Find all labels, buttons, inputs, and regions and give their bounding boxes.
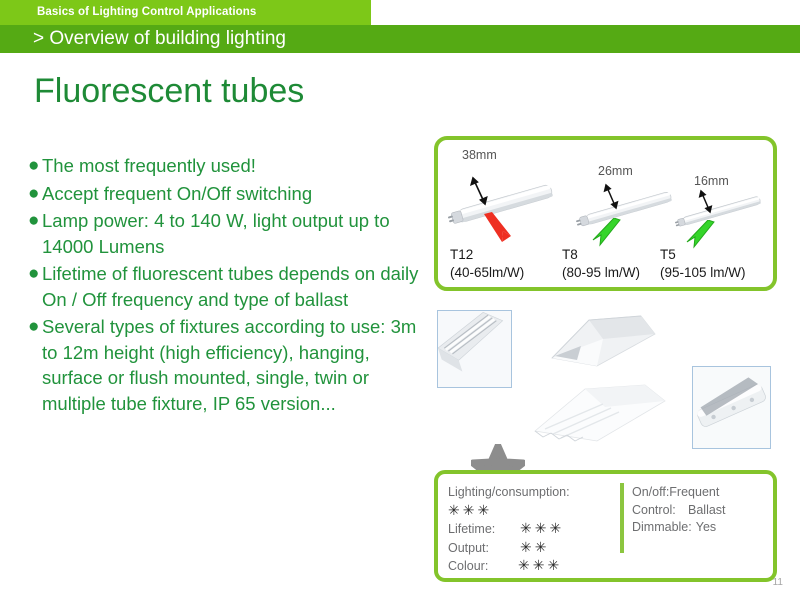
list-item: ● Lifetime of fluorescent tubes depends … [28,261,423,312]
bullet-marker-icon: ● [28,261,42,287]
bullet-list: ● The most frequently used! ● Accept fre… [28,153,423,418]
info-row-lighting-consumption: Lighting/consumption: [448,484,616,502]
info-row-dimmable: Dimmable: Yes [632,519,772,537]
surface-reflector-luminaire-photo [537,312,662,374]
list-item-text: Lamp power: 4 to 140 W, light output up … [42,208,423,259]
info-row-lifetime: Lifetime: ✳✳✳ [448,520,616,539]
bullet-marker-icon: ● [28,181,42,207]
list-item: ● Accept frequent On/Off switching [28,181,423,207]
page-number: 11 [773,577,783,588]
info-row-lighting-consumption-stars: ✳✳✳ [448,502,616,521]
info-label-dimmable: Dimmable: [632,519,692,537]
info-row-control: Control: Ballast [632,502,772,520]
green-up-arrow-icon [592,218,626,250]
reflector-luminaire-graphic [537,312,662,374]
green-up-arrow-icon [686,220,720,252]
waterproof-luminaire-graphic [693,367,770,448]
louvre-luminaire-graphic [438,311,511,387]
info-column-divider [620,483,624,553]
bullet-marker-icon: ● [28,314,42,340]
info-row-onoff: On/off: Frequent [632,484,772,502]
info-label-control: Control: [632,502,688,520]
info-row-colour: Colour: ✳✳✳ [448,557,616,576]
bullet-marker-icon: ● [28,153,42,179]
list-item-text: Lifetime of fluorescent tubes depends on… [42,261,423,312]
rating-stars-lifetime: ✳✳✳ [520,520,564,538]
tube-efficacy-t8: (80-95 lm/W) [562,265,640,280]
info-value-dimmable: Yes [696,519,716,537]
header-section-label: > Overview of building lighting [33,28,286,50]
tube-name-t12: T12 [450,247,473,262]
diameter-arrow-icon-t12 [471,178,486,204]
info-label-lifetime: Lifetime: [448,521,506,539]
tube-group-t12: 38mm T12 (40-65lm/W [438,140,568,290]
info-label-lighting-consumption: Lighting/consumption: [448,484,570,502]
rating-stars-lighting-consumption: ✳✳✳ [448,502,492,518]
characteristics-info-box: Lighting/consumption: ✳✳✳ Lifetime: ✳✳✳ … [434,470,777,582]
list-item-text: The most frequently used! [42,153,423,179]
tube-name-t8: T8 [562,247,578,262]
diameter-arrow-icon-t5 [700,191,712,212]
recessed-louvre-luminaire-photo [437,310,512,388]
list-item: ● The most frequently used! [28,153,423,179]
list-item-text: Several types of fixtures according to u… [42,314,423,416]
info-row-output: Output: ✳✳ [448,539,616,558]
diffuser-luminaire-graphic [527,377,672,447]
tube-efficacy-t5: (95-105 lm/W) [660,265,746,280]
info-column-ratings: Lighting/consumption: ✳✳✳ Lifetime: ✳✳✳ … [448,484,616,576]
rating-stars-output: ✳✳ [520,539,549,557]
list-item: ● Lamp power: 4 to 140 W, light output u… [28,208,423,259]
info-label-colour: Colour: [448,558,506,576]
twin-tube-diffuser-luminaire-photo [527,377,672,447]
tube-efficacy-t12: (40-65lm/W) [450,265,524,280]
bullet-marker-icon: ● [28,208,42,234]
info-value-control: Ballast [688,502,726,520]
page-title: Fluorescent tubes [34,72,304,111]
info-label-output: Output: [448,540,506,558]
header-eyebrow-label: Basics of Lighting Control Applications [37,6,256,18]
list-item-text: Accept frequent On/Off switching [42,181,423,207]
tube-diameter-label-t12: 38mm [462,148,497,162]
tube-group-t5: 16mm T5 (95-105 lm/W) [660,140,775,290]
rating-stars-colour: ✳✳✳ [518,557,562,575]
info-column-properties: On/off: Frequent Control: Ballast Dimmab… [632,484,772,537]
diameter-arrow-icon-t8 [605,185,618,208]
tube-comparison-panel: 38mm T12 (40-65lm/W [434,136,777,291]
tube-name-t5: T5 [660,247,676,262]
info-label-onoff: On/off: [632,484,669,502]
red-down-arrow-icon [480,212,520,248]
info-value-onoff: Frequent [669,484,719,502]
ip65-waterproof-luminaire-photo [692,366,771,449]
list-item: ● Several types of fixtures according to… [28,314,423,416]
